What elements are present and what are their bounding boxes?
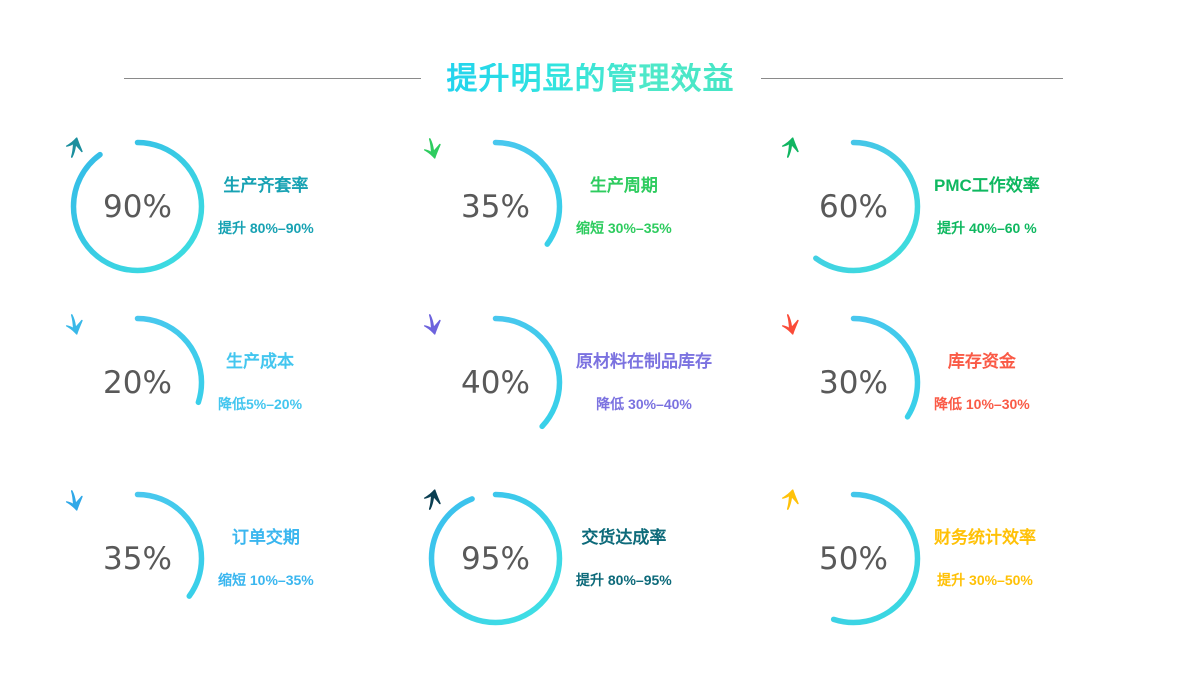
metric-value: 35% [461, 192, 530, 223]
progress-ring: 40% [423, 310, 568, 455]
metric-text-block: 订单交期缩短 10%–35% [218, 529, 314, 587]
metric-card[interactable]: 90%生产齐套率提升 80%–90% [65, 118, 405, 294]
header-rule-left [124, 78, 421, 79]
ring-center: 35% [65, 486, 210, 631]
progress-ring: 35% [423, 134, 568, 279]
ring-center: 20% [65, 310, 210, 455]
metric-text-block: 库存资金降低 10%–30% [934, 353, 1030, 411]
metric-sublabel: 提升 40%–60 % [937, 221, 1037, 235]
metric-value: 20% [103, 368, 172, 399]
progress-ring: 90% [65, 134, 210, 279]
progress-ring: 50% [781, 486, 926, 631]
metric-sublabel: 提升 30%–50% [937, 573, 1033, 587]
arrow-down-icon [423, 313, 442, 335]
metric-value: 35% [103, 544, 172, 575]
metric-sublabel: 降低 10%–30% [934, 397, 1030, 411]
metric-text-block: 生产成本降低5%–20% [218, 353, 302, 411]
metric-sublabel: 提升 80%–95% [576, 573, 672, 587]
page-title: 提升明显的管理效益 [447, 63, 735, 94]
arrow-up-icon [423, 489, 442, 511]
arrow-down-icon [65, 313, 84, 335]
metric-card[interactable]: 35%订单交期缩短 10%–35% [65, 470, 405, 646]
arrow-up-icon [781, 489, 800, 511]
page-header: 提升明显的管理效益 [0, 52, 1186, 104]
metric-text-block: 财务统计效率提升 30%–50% [934, 529, 1036, 587]
metrics-grid: 90%生产齐套率提升 80%–90%35%生产周期缩短 30%–35%60%PM… [0, 118, 1186, 646]
arrow-down-icon [65, 489, 84, 511]
metric-card[interactable]: 60%PMC工作效率提升 40%–60 % [781, 118, 1121, 294]
metric-label: 生产成本 [226, 353, 294, 370]
metric-card[interactable]: 95%交货达成率提升 80%–95% [423, 470, 763, 646]
metric-card[interactable]: 40%原材料在制品库存降低 30%–40% [423, 294, 763, 470]
metric-text-block: PMC工作效率提升 40%–60 % [934, 177, 1040, 235]
metric-card[interactable]: 20%生产成本降低5%–20% [65, 294, 405, 470]
metric-text-block: 交货达成率提升 80%–95% [576, 529, 672, 587]
ring-center: 40% [423, 310, 568, 455]
ring-center: 50% [781, 486, 926, 631]
metric-value: 30% [819, 368, 888, 399]
metric-sublabel: 缩短 30%–35% [576, 221, 672, 235]
metric-label: 交货达成率 [581, 529, 666, 546]
metric-card[interactable]: 50%财务统计效率提升 30%–50% [781, 470, 1121, 646]
progress-ring: 20% [65, 310, 210, 455]
metric-label: 库存资金 [948, 353, 1016, 370]
metric-text-block: 原材料在制品库存降低 30%–40% [576, 353, 712, 411]
metric-sublabel: 缩短 10%–35% [218, 573, 314, 587]
header-rule-right [761, 78, 1063, 79]
progress-ring: 35% [65, 486, 210, 631]
metric-value: 60% [819, 192, 888, 223]
metric-label: 生产齐套率 [223, 177, 308, 194]
metric-label: 财务统计效率 [934, 529, 1036, 546]
metric-value: 90% [103, 192, 172, 223]
metric-label: 订单交期 [232, 529, 300, 546]
metric-card[interactable]: 30%库存资金降低 10%–30% [781, 294, 1121, 470]
metric-label: PMC工作效率 [934, 177, 1040, 194]
metric-card[interactable]: 35%生产周期缩短 30%–35% [423, 118, 763, 294]
metric-value: 95% [461, 544, 530, 575]
metric-text-block: 生产周期缩短 30%–35% [576, 177, 672, 235]
arrow-down-icon [423, 137, 442, 159]
progress-ring: 60% [781, 134, 926, 279]
arrow-down-icon [781, 313, 800, 335]
arrow-up-icon [65, 137, 84, 159]
progress-ring: 30% [781, 310, 926, 455]
metric-sublabel: 提升 80%–90% [218, 221, 314, 235]
ring-center: 35% [423, 134, 568, 279]
metric-sublabel: 降低5%–20% [218, 397, 302, 411]
ring-center: 90% [65, 134, 210, 279]
metric-sublabel: 降低 30%–40% [596, 397, 692, 411]
metric-label: 生产周期 [590, 177, 658, 194]
ring-center: 60% [781, 134, 926, 279]
metric-label: 原材料在制品库存 [576, 353, 712, 370]
metric-text-block: 生产齐套率提升 80%–90% [218, 177, 314, 235]
progress-ring: 95% [423, 486, 568, 631]
ring-center: 30% [781, 310, 926, 455]
arrow-up-icon [781, 137, 800, 159]
metric-value: 40% [461, 368, 530, 399]
metric-value: 50% [819, 544, 888, 575]
ring-center: 95% [423, 486, 568, 631]
